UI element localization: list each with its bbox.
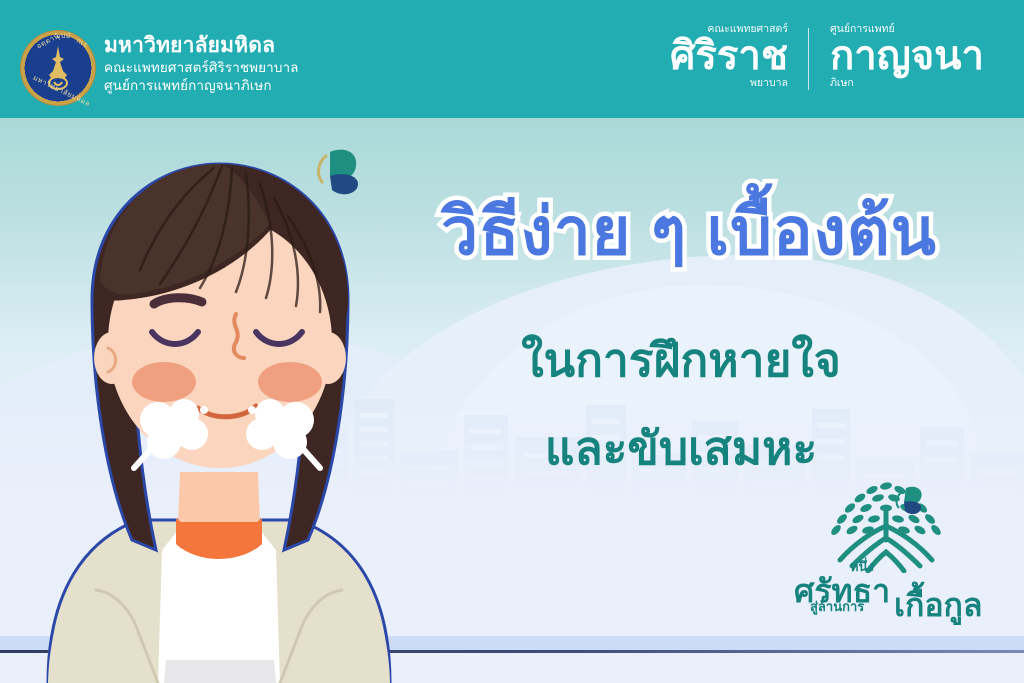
brand-kanchana: ศูนย์การแพทย์ กาญจนา ภิเษก [808,24,1002,88]
institution-line-3: ศูนย์การแพทย์กาญจนาภิเษก [104,77,299,95]
brand-kanchana-subscript: ภิเษก [830,78,854,89]
brand-divider [808,28,809,90]
brand-siriraj-superscript: คณะแพทยศาสตร์ [707,24,788,35]
institution-line-1: มหาวิทยาลัยมหิดล [104,33,299,59]
institution-name: มหาวิทยาลัยมหิดล คณะแพทยศาสตร์ศิริราชพยา… [104,33,299,94]
institution-line-2: คณะแพทยศาสตร์ศิริราชพยาบาล [104,59,299,77]
brand-kanchana-superscript: ศูนย์การแพทย์ [830,24,895,35]
poster-canvas: อตฺตานํ อุปมํ กเร มหาวิทยาลัยมหิดล มหาวิ… [0,0,1024,683]
subtitle-line-1: ในการฝึกหายใจ [358,336,1004,384]
woman-breathing-exercise-illustration [8,120,428,683]
logo-word-su-lan-kan: สู่ล้านการ [810,596,864,617]
brand-kanchana-main: กาญจนา [830,36,984,76]
campaign-logo-wordmark: หนึ่ง ศรัทธา สู่ล้านการ เกื้อกูล [788,556,984,620]
header-bar: อตฺตานํ อุปมํ กเร มหาวิทยาลัยมหิดล มหาวิ… [0,0,1024,118]
subtitle-line-2: และขับเสมหะ [358,424,1004,472]
brand-siriraj-subscript: พยาบาล [750,78,788,89]
mahidol-emblem-icon: อตฺตานํ อุปมํ กเร มหาวิทยาลัยมหิดล [20,30,96,106]
siriraj-kanchana-brand: คณะแพทยศาสตร์ ศิริราช พยาบาล ศูนย์การแพท… [652,24,1002,96]
headline-text: วิธีง่าย ๆ เบื้องต้น [366,196,1012,267]
brand-siriraj: คณะแพทยศาสตร์ ศิริราช พยาบาล [652,24,808,88]
brand-siriraj-main: ศิริราช [670,36,788,76]
logo-word-kueakun: เกื้อกูล [894,580,983,631]
butterfly-icon [304,146,366,202]
campaign-logo: หนึ่ง ศรัทธา สู่ล้านการ เกื้อกูล [788,478,984,620]
